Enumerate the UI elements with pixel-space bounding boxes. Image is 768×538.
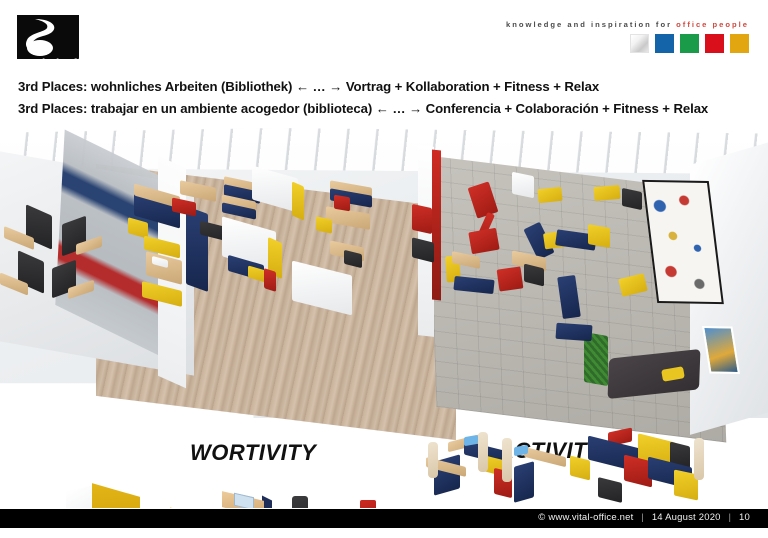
title-line-spanish: 3rd Places: trabajar en un ambiente acog… (18, 98, 758, 120)
footer-separator: | (636, 512, 649, 523)
booth-red-panel (264, 268, 276, 292)
mannequin-figure (428, 442, 438, 478)
footer-page-number: 10 (739, 512, 750, 523)
zone-label-wortivity: WORTIVITY (190, 440, 316, 466)
footer-copyright: © (538, 512, 545, 523)
swatch-white (630, 34, 649, 53)
footer-separator: | (724, 512, 737, 523)
mannequin-figure (478, 432, 488, 472)
yellow-stool (537, 187, 562, 203)
booth-yellow-panel (292, 181, 304, 220)
footer-date: 14 August 2020 (652, 512, 721, 523)
logo-wordmark: Vital-Office® (34, 57, 102, 71)
vignette-lounge-group (570, 424, 730, 508)
vital-office-logo: Vital-Office® (17, 15, 79, 59)
desk-panel (514, 461, 534, 503)
yellow-stool (593, 185, 620, 201)
red-chair (334, 195, 350, 212)
vignette-workstation-group (418, 428, 578, 508)
slide-title-block: 3rd Places: wohnliches Arbeiten (Bibliot… (18, 76, 758, 120)
blue-divider-sofa (186, 206, 208, 292)
yellow-caddy (570, 456, 590, 481)
mannequin-figure (502, 438, 512, 482)
logo-s-curve-icon (17, 15, 79, 59)
swatch-blue (655, 34, 674, 53)
red-pillar (432, 150, 441, 301)
office-render-image: WORTIVITY ACTIVITY Relax (0, 128, 768, 508)
ponys-red-module (360, 500, 376, 508)
blue-bench (555, 323, 592, 341)
ponys-dark-module (292, 496, 308, 508)
footer-bar: © www.vital-office.net | 14 August 2020 … (0, 509, 768, 528)
white-cube (512, 172, 534, 199)
tagline-plain: knowledge and inspiration for (506, 20, 676, 29)
tagline-accent: office people (676, 20, 749, 29)
product-showcase-row: Silencio Qaddy UTable Ponys (0, 486, 420, 508)
silencio-yellow-panel (92, 483, 140, 508)
brand-swatches (630, 34, 749, 53)
swatch-green (680, 34, 699, 53)
footer-text: © www.vital-office.net | 14 August 2020 … (538, 512, 750, 523)
swatch-yellow (730, 34, 749, 53)
title-line-german: 3rd Places: wohnliches Arbeiten (Bibliot… (18, 76, 758, 98)
red-ottoman (497, 266, 524, 291)
red-seat (412, 204, 432, 234)
yellow-stool (588, 224, 610, 248)
qaddy-yellow-body (170, 507, 192, 508)
tagline: knowledge and inspiration for office peo… (506, 20, 749, 29)
slide-root: Vital-Office® knowledge and inspiration … (0, 0, 768, 538)
swatch-red (705, 34, 724, 53)
utable-monitor (234, 493, 254, 508)
mannequin-figure (694, 438, 704, 480)
dark-ottoman (598, 477, 622, 503)
footer-site[interactable]: www.vital-office.net (548, 512, 633, 523)
